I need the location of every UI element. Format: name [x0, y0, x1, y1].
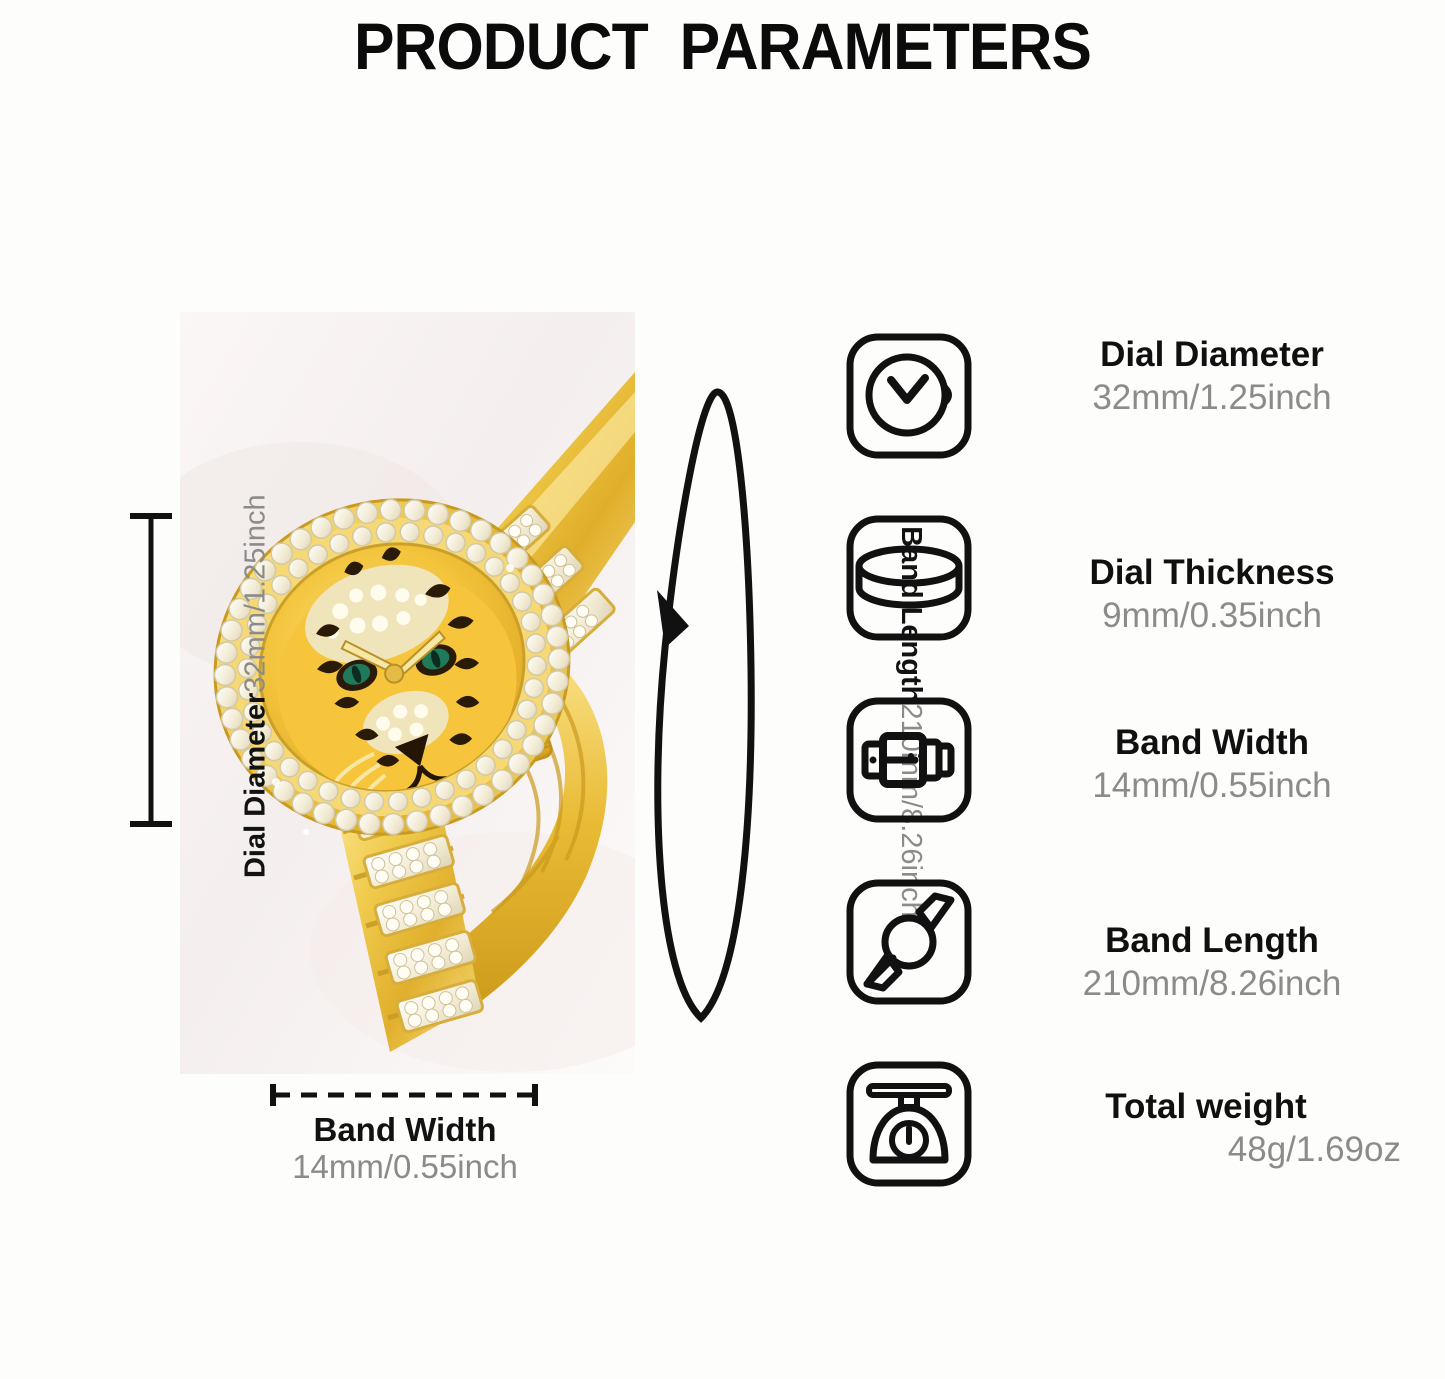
page-title: PRODUCT PARAMETERS	[58, 8, 1387, 84]
spec-list: Dial Diameter 32mm/1.25inch Dial Thickne…	[843, 330, 1413, 1240]
spec-value-band-length: 210mm/8.26inch	[1011, 963, 1413, 1006]
watch-strap-diagonal-icon	[843, 876, 975, 1008]
product-parameters-page: PRODUCT PARAMETERS	[0, 0, 1445, 1379]
spec-row-total-weight: Total weight 48g/1.69oz	[843, 1058, 1413, 1240]
spec-label-dial-diameter: Dial Diameter	[1011, 334, 1413, 377]
watch-band-clasp-icon	[843, 694, 975, 826]
spec-text-total-weight: Total weight 48g/1.69oz	[975, 1058, 1413, 1171]
spec-text-band-length: Band Length 210mm/8.26inch	[975, 876, 1413, 1005]
spec-label-band-width: Band Width	[1011, 722, 1413, 765]
band-width-annotation: Band Width 14mm/0.55inch	[200, 1112, 610, 1186]
spec-row-dial-diameter: Dial Diameter 32mm/1.25inch	[843, 330, 1413, 512]
spec-value-total-weight: 48g/1.69oz	[1011, 1129, 1401, 1172]
spec-text-band-width: Band Width 14mm/0.55inch	[975, 694, 1413, 807]
spec-value-band-width: 14mm/0.55inch	[1011, 765, 1413, 808]
spec-row-band-length: Band Length 210mm/8.26inch	[843, 876, 1413, 1058]
band-width-annotation-label: Band Width	[200, 1112, 610, 1149]
spec-label-total-weight: Total weight	[1011, 1086, 1401, 1129]
spec-value-dial-diameter: 32mm/1.25inch	[1011, 377, 1413, 420]
dial-diameter-dimension-line	[120, 505, 182, 835]
spec-label-dial-thickness: Dial Thickness	[1011, 552, 1413, 595]
band-length-loop-arrow	[645, 378, 765, 1028]
spec-row-dial-thickness: Dial Thickness 9mm/0.35inch	[843, 512, 1413, 694]
watch-face-icon	[843, 330, 975, 462]
band-width-dimension-line	[268, 1082, 540, 1108]
spec-label-band-length: Band Length	[1011, 920, 1413, 963]
spec-value-dial-thickness: 9mm/0.35inch	[1011, 595, 1413, 638]
disc-thickness-icon	[843, 512, 975, 644]
kitchen-scale-icon	[843, 1058, 975, 1190]
spec-text-dial-diameter: Dial Diameter 32mm/1.25inch	[975, 330, 1413, 419]
spec-text-dial-thickness: Dial Thickness 9mm/0.35inch	[975, 512, 1413, 637]
band-width-annotation-value: 14mm/0.55inch	[200, 1149, 610, 1186]
spec-row-band-width: Band Width 14mm/0.55inch	[843, 694, 1413, 876]
dial-diameter-annotation-value: 32mm/1.25inch	[240, 494, 272, 692]
dial-diameter-annotation: Dial Diameter 32mm/1.25inch	[240, 494, 272, 878]
dial-diameter-annotation-label: Dial Diameter	[240, 693, 272, 878]
